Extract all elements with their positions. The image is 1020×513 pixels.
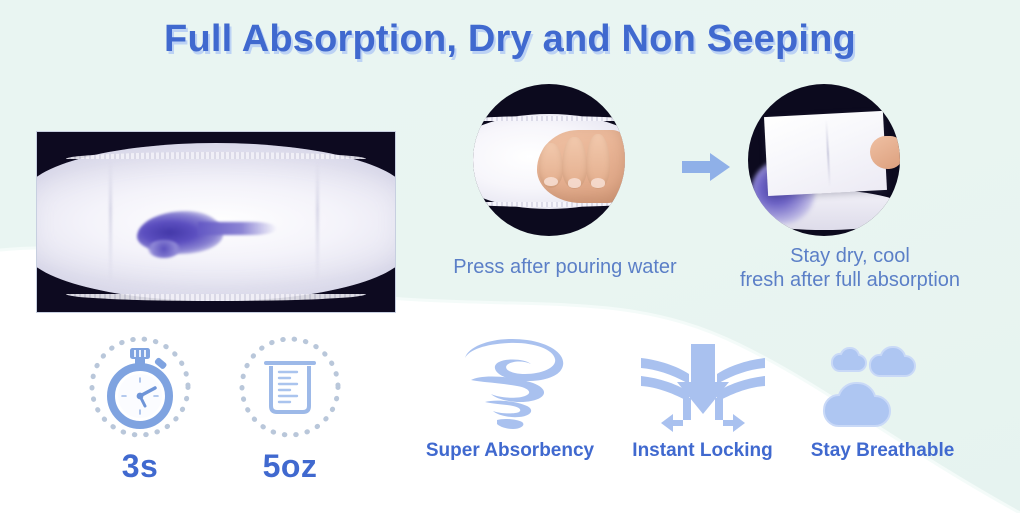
arrow-right-icon [680,150,732,184]
promo-banner: Full Absorption, Dry and Non Seeping [0,0,1020,513]
dry-tissue-test-photo [748,84,900,236]
absorption-time-value: 3s [70,448,210,485]
caption-line-2: fresh after full absorption [700,269,1000,293]
pad-edge-bottom [66,294,367,301]
pad-edge-bottom [473,202,625,207]
finger [586,134,611,189]
page-title: Full Absorption, Dry and Non Seeping [0,18,1020,61]
caption-line-1: Stay dry, cool [700,245,1000,269]
pad-edge-top [473,116,625,121]
feature-absorption-time: 3s [70,332,210,485]
beaker-icon [235,332,345,442]
blue-liquid-stain-tail [198,222,277,235]
pad-crease-right [316,161,319,283]
blue-liquid-stain-lobe [148,240,180,258]
fingernail [568,178,582,187]
feature-super-absorbency: Super Absorbency [415,336,605,462]
feature-label-super-absorbency: Super Absorbency [415,440,605,462]
fingernail [591,178,605,187]
step-caption-stay-dry: Stay dry, cool fresh after full absorpti… [700,245,1000,292]
fingernail [544,177,558,186]
feature-stay-breathable: Stay Breathable [795,336,970,462]
down-arrow-lock-icon [633,336,773,436]
feature-label-stay-breathable: Stay Breathable [795,440,970,462]
feature-capacity: 5oz [220,332,360,485]
step-caption-press: Press after pouring water [420,256,710,280]
feature-label-instant-locking: Instant Locking [615,440,790,462]
hand-pressing-pad-photo [473,84,625,236]
finger [539,143,564,188]
feature-instant-locking: Instant Locking [615,336,790,462]
absorbed-liquid-pad-photo [36,131,396,313]
clouds-icon [808,336,958,436]
stopwatch-icon [85,332,195,442]
tornado-icon [447,336,573,436]
pad-crease-left [109,161,112,283]
capacity-value: 5oz [220,448,360,485]
hand [537,130,625,203]
finger [562,137,587,190]
